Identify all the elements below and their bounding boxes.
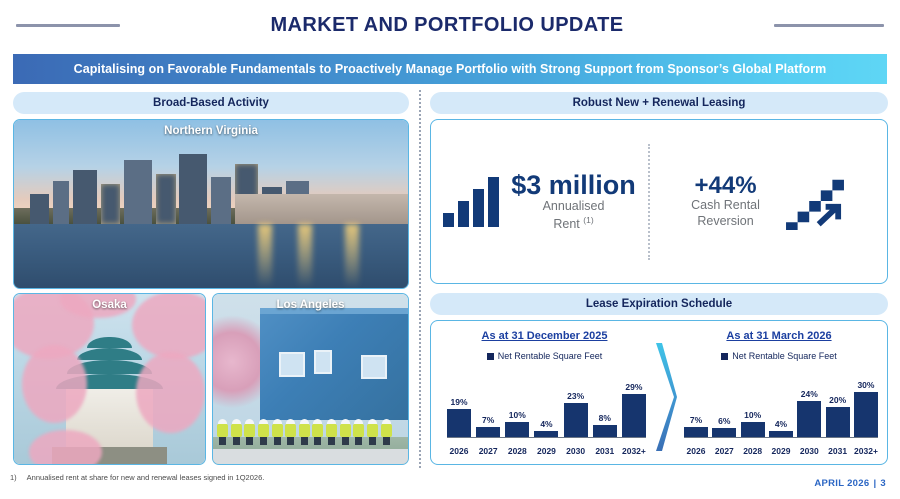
bar-column: 4% <box>534 379 558 437</box>
footnote-marker: 1) <box>10 473 17 482</box>
bar-rect <box>741 422 765 437</box>
footer-date: APRIL 2026 <box>814 478 869 489</box>
bar-column: 8% <box>593 379 617 437</box>
x-tick-label: 2027 <box>712 446 736 456</box>
bar-column: 29% <box>622 379 646 437</box>
bar-value-label: 7% <box>482 415 494 425</box>
footer-page-number: 3 <box>880 478 886 489</box>
stairs-up-arrow-icon <box>784 174 846 230</box>
stat-annualised-rent: $3 million Annualised Rent (1) <box>431 171 648 233</box>
bar-value-label: 24% <box>801 389 818 399</box>
bar-column: 20% <box>826 379 850 437</box>
section-header-robust-leasing: Robust New + Renewal Leasing <box>430 92 888 114</box>
bar-value-label: 6% <box>718 416 730 426</box>
bar-rect <box>593 425 617 437</box>
stat-cash-rental-reversion: +44% Cash Rental Reversion <box>650 173 887 229</box>
left-column: Broad-Based Activity <box>13 92 409 114</box>
bar-value-label: 4% <box>540 419 552 429</box>
x-tick-label: 2030 <box>797 446 821 456</box>
legend-label: Net Rentable Square Feet <box>732 351 837 361</box>
lease-expiration-card: As at 31 December 2025 Net Rentable Squa… <box>430 320 888 465</box>
bar-rect <box>797 401 821 437</box>
photo-caption-northern-virginia: Northern Virginia <box>14 125 408 137</box>
bar-column: 24% <box>797 379 821 437</box>
legend-swatch-icon <box>721 353 728 360</box>
bar-rect <box>769 431 793 437</box>
bar-rect <box>505 422 529 437</box>
x-tick-label: 2026 <box>684 446 708 456</box>
bar-rect <box>684 427 708 437</box>
page-title: MARKET AND PORTFOLIO UPDATE <box>270 14 623 37</box>
chart-x-axis: 2026 2027 2028 2029 2030 2031 2032+ <box>684 446 878 456</box>
bar-rect <box>712 428 736 437</box>
legend-label: Net Rentable Square Feet <box>498 351 603 361</box>
bar-rect <box>476 427 500 437</box>
stat-label-line2: Reversion <box>697 214 753 228</box>
bar-value-label: 30% <box>857 380 874 390</box>
bar-value-label: 8% <box>599 413 611 423</box>
x-tick-label: 2026 <box>447 446 471 456</box>
bar-value-label: 19% <box>450 397 467 407</box>
bar-rect <box>826 407 850 437</box>
bar-column: 23% <box>564 379 588 437</box>
column-divider <box>419 90 421 468</box>
stat-label-line1: Cash Rental <box>691 198 760 212</box>
headline-banner: Capitalising on Favorable Fundamentals t… <box>13 54 887 84</box>
section-header-lease-expiration: Lease Expiration Schedule <box>430 293 888 315</box>
right-column: Robust New + Renewal Leasing <box>430 92 888 114</box>
chart-plot-area: 7% 6% 10% 4% 24% 20% 30% <box>684 379 878 438</box>
bar-chart-icon <box>443 177 499 227</box>
bar-column: 19% <box>447 379 471 437</box>
legend-swatch-icon <box>487 353 494 360</box>
section-header-label: Lease Expiration Schedule <box>586 298 732 310</box>
chart-as-at-december-2025: As at 31 December 2025 Net Rentable Squa… <box>437 321 652 464</box>
title-rule-right <box>774 24 884 27</box>
stat-label-line2: Rent <box>553 217 579 231</box>
photo-caption-los-angeles: Los Angeles <box>213 299 408 311</box>
bar-value-label: 23% <box>567 391 584 401</box>
bar-rect <box>854 392 878 437</box>
photo-art-northern-virginia <box>14 120 408 288</box>
x-tick-label: 2028 <box>741 446 765 456</box>
bar-value-label: 10% <box>509 410 526 420</box>
headline-banner-text: Capitalising on Favorable Fundamentals t… <box>74 62 827 76</box>
bar-rect <box>534 431 558 437</box>
x-tick-label: 2031 <box>593 446 617 456</box>
footnote-text: Annualised rent at share for new and ren… <box>27 473 265 482</box>
chart-title: As at 31 March 2026 <box>674 330 884 342</box>
bar-column: 30% <box>854 379 878 437</box>
bar-rect <box>622 394 646 438</box>
chart-x-axis: 2026 2027 2028 2029 2030 2031 2032+ <box>447 446 646 456</box>
x-tick-label: 2032+ <box>854 446 878 456</box>
stat-label-annualised-rent: Annualised Rent (1) <box>543 199 605 232</box>
bar-value-label: 4% <box>775 419 787 429</box>
photo-northern-virginia: Northern Virginia <box>13 119 409 289</box>
bar-rect <box>447 409 471 437</box>
bar-column: 7% <box>684 379 708 437</box>
x-tick-label: 2032+ <box>622 446 646 456</box>
x-tick-label: 2029 <box>769 446 793 456</box>
x-tick-label: 2031 <box>826 446 850 456</box>
photo-osaka: Osaka <box>13 293 206 465</box>
footnote-marker: (1) <box>583 215 593 225</box>
x-tick-label: 2027 <box>476 446 500 456</box>
stat-label-cash-rental-reversion: Cash Rental Reversion <box>691 198 760 229</box>
x-tick-label: 2030 <box>564 446 588 456</box>
x-tick-label: 2029 <box>534 446 558 456</box>
section-header-label: Broad-Based Activity <box>153 97 269 109</box>
chart-title: As at 31 December 2025 <box>437 330 652 342</box>
section-header-broad-based-activity: Broad-Based Activity <box>13 92 409 114</box>
photo-art-los-angeles <box>213 294 408 464</box>
chart-as-at-march-2026: As at 31 March 2026 Net Rentable Square … <box>674 321 884 464</box>
photo-los-angeles: Los Angeles <box>212 293 409 465</box>
bar-column: 4% <box>769 379 793 437</box>
title-rule-left <box>16 24 120 27</box>
bar-column: 6% <box>712 379 736 437</box>
stat-value-cash-rental-reversion: +44% <box>694 173 756 198</box>
bar-value-label: 29% <box>625 382 642 392</box>
bar-value-label: 20% <box>829 395 846 405</box>
stat-label-line1: Annualised <box>543 199 605 213</box>
slide-title-row: MARKET AND PORTFOLIO UPDATE <box>0 8 900 42</box>
bar-value-label: 7% <box>690 415 702 425</box>
chart-legend: Net Rentable Square Feet <box>674 351 884 361</box>
chart-plot-area: 19% 7% 10% 4% 23% 8% 29% <box>447 379 646 438</box>
bar-column: 7% <box>476 379 500 437</box>
footnote: 1) Annualised rent at share for new and … <box>10 473 430 482</box>
x-tick-label: 2028 <box>505 446 529 456</box>
bar-column: 10% <box>741 379 765 437</box>
photo-caption-osaka: Osaka <box>14 299 205 311</box>
leasing-stats-card: $3 million Annualised Rent (1) +44% Cash… <box>430 119 888 284</box>
photo-art-osaka <box>14 294 205 464</box>
bar-value-label: 10% <box>744 410 761 420</box>
bar-rect <box>564 403 588 437</box>
section-header-label: Robust New + Renewal Leasing <box>573 97 746 109</box>
chart-legend: Net Rentable Square Feet <box>437 351 652 361</box>
footer-separator: | <box>873 478 876 489</box>
footer-meta: APRIL 2026|3 <box>814 478 886 489</box>
stat-value-annualised-rent: $3 million <box>511 171 636 199</box>
bar-column: 10% <box>505 379 529 437</box>
